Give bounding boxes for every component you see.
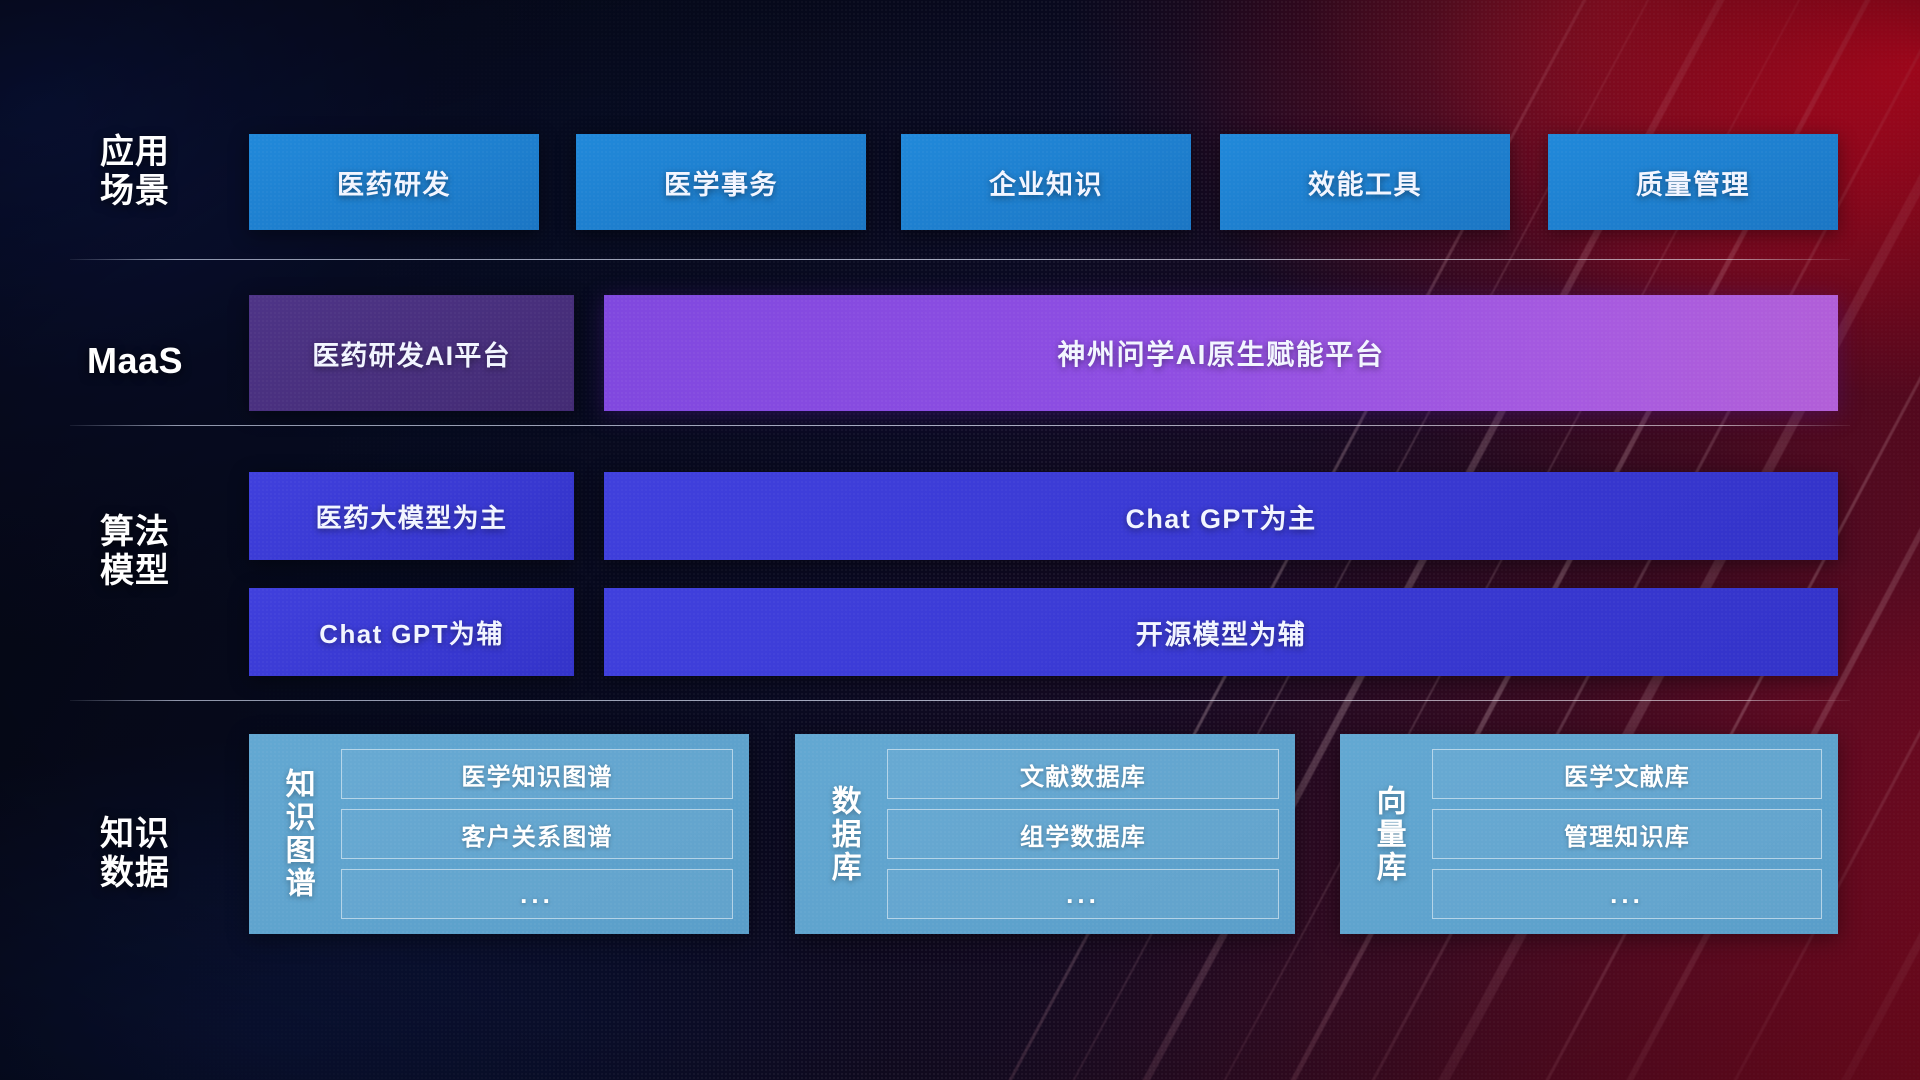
maas-box-label: 医药研发AI平台 xyxy=(312,334,511,373)
app-box-3[interactable]: 效能工具 xyxy=(1220,134,1510,230)
rail-line: 算法 xyxy=(70,513,200,552)
knowledge-item[interactable]: 医学文献库 xyxy=(1432,749,1822,799)
algo-box-label: 开源模型为辅 xyxy=(1136,613,1306,652)
knowledge-panel-items: 医学文献库 管理知识库 ... xyxy=(1418,749,1822,919)
app-box-label: 企业知识 xyxy=(989,163,1103,202)
knowledge-item[interactable]: 文献数据库 xyxy=(887,749,1279,799)
app-box-0[interactable]: 医药研发 xyxy=(249,134,539,230)
app-box-4[interactable]: 质量管理 xyxy=(1548,134,1838,230)
algo-box-label: Chat GPT为主 xyxy=(1125,497,1316,536)
rail-label-algorithm: 算法 模型 xyxy=(70,513,200,592)
maas-box-label: 神州问学AI原生赋能平台 xyxy=(1057,333,1384,373)
knowledge-panel-label: 数据库 xyxy=(813,785,873,884)
app-box-label: 效能工具 xyxy=(1308,163,1422,202)
rail-label-maas: MaaS xyxy=(70,340,200,382)
rail-line: 数据 xyxy=(70,854,200,893)
app-box-label: 质量管理 xyxy=(1636,163,1750,202)
knowledge-panel-label: 知识图谱 xyxy=(267,768,327,900)
app-box-2[interactable]: 企业知识 xyxy=(901,134,1191,230)
knowledge-item[interactable]: 组学数据库 xyxy=(887,809,1279,859)
algo-box-row1-left[interactable]: Chat GPT为辅 xyxy=(249,588,574,676)
knowledge-item-more[interactable]: ... xyxy=(887,869,1279,919)
rail-line: 应用 xyxy=(70,133,200,172)
knowledge-item-more[interactable]: ... xyxy=(341,869,733,919)
rail-line: 知识 xyxy=(70,815,200,854)
knowledge-item-more[interactable]: ... xyxy=(1432,869,1822,919)
maas-box-shenzhou-platform[interactable]: 神州问学AI原生赋能平台 xyxy=(604,295,1838,411)
divider-application-maas xyxy=(70,259,1850,260)
algo-box-row0-right[interactable]: Chat GPT为主 xyxy=(604,472,1838,560)
rail-line: MaaS xyxy=(70,340,200,382)
rail-label-application: 应用 场景 xyxy=(70,133,200,212)
knowledge-panel-database[interactable]: 数据库 文献数据库 组学数据库 ... xyxy=(795,734,1295,934)
algo-box-label: Chat GPT为辅 xyxy=(319,614,503,651)
rail-line: 模型 xyxy=(70,552,200,591)
knowledge-panel-items: 医学知识图谱 客户关系图谱 ... xyxy=(327,749,733,919)
knowledge-panel-items: 文献数据库 组学数据库 ... xyxy=(873,749,1279,919)
architecture-diagram: 应用 场景 医药研发 医学事务 企业知识 效能工具 质量管理 MaaS 医药研发… xyxy=(0,0,1920,1080)
algo-box-row1-right[interactable]: 开源模型为辅 xyxy=(604,588,1838,676)
knowledge-item[interactable]: 管理知识库 xyxy=(1432,809,1822,859)
knowledge-item[interactable]: 客户关系图谱 xyxy=(341,809,733,859)
algo-box-label: 医药大模型为主 xyxy=(316,498,508,535)
rail-label-knowledge: 知识 数据 xyxy=(70,815,200,894)
knowledge-panel-vector[interactable]: 向量库 医学文献库 管理知识库 ... xyxy=(1340,734,1838,934)
knowledge-panel-label: 向量库 xyxy=(1358,785,1418,884)
divider-maas-algorithm xyxy=(70,425,1850,426)
divider-algorithm-knowledge xyxy=(70,700,1850,701)
knowledge-panel-graph[interactable]: 知识图谱 医学知识图谱 客户关系图谱 ... xyxy=(249,734,749,934)
rail-line: 场景 xyxy=(70,172,200,211)
app-box-label: 医学事务 xyxy=(664,163,778,202)
app-box-label: 医药研发 xyxy=(337,163,451,202)
algo-box-row0-left[interactable]: 医药大模型为主 xyxy=(249,472,574,560)
knowledge-item[interactable]: 医学知识图谱 xyxy=(341,749,733,799)
app-box-1[interactable]: 医学事务 xyxy=(576,134,866,230)
maas-box-pharma-ai-platform[interactable]: 医药研发AI平台 xyxy=(249,295,574,411)
